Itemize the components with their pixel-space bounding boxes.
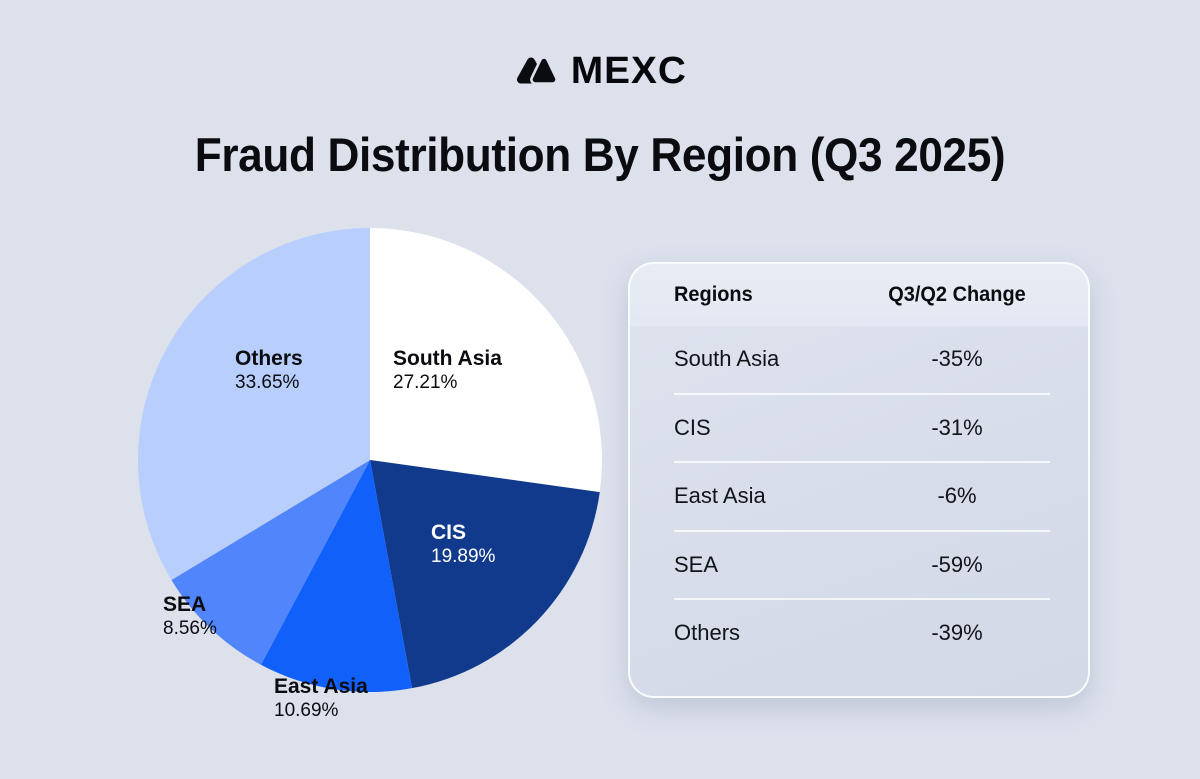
mexc-logo-icon [514,56,558,86]
pie-slice-south-asia [370,228,602,492]
table-row: CIS-31% [674,393,1050,462]
table-cell-change: -35% [864,346,1050,372]
table-cell-change: -59% [864,552,1050,578]
table-cell-region: Others [674,620,864,646]
table-cell-change: -6% [864,483,1050,509]
region-change-card: Regions Q3/Q2 Change South Asia-35%CIS-3… [628,262,1090,698]
table-body: South Asia-35%CIS-31%East Asia-6%SEA-59%… [630,326,1088,667]
table-cell-region: East Asia [674,483,864,509]
table-row: SEA-59% [674,530,1050,599]
table-cell-region: CIS [674,415,864,441]
table-header-row: Regions Q3/Q2 Change [630,264,1088,326]
table-cell-region: SEA [674,552,864,578]
table-row: South Asia-35% [674,326,1050,393]
pie-chart-svg [135,225,605,695]
pie-label-east-asia-percent: 10.69% [274,700,368,722]
table-row: Others-39% [674,598,1050,667]
table-header-regions: Regions [674,283,855,307]
table-row: East Asia-6% [674,461,1050,530]
pie-chart: South Asia 27.21% CIS 19.89% East Asia 1… [135,225,605,695]
page-title: Fraud Distribution By Region (Q3 2025) [36,127,1164,182]
table-header-change: Q3/Q2 Change [869,283,1046,307]
table-cell-change: -39% [864,620,1050,646]
brand-header: MEXC [0,52,1200,90]
brand-name: MEXC [571,52,687,90]
table-cell-change: -31% [864,415,1050,441]
table-cell-region: South Asia [674,346,864,372]
